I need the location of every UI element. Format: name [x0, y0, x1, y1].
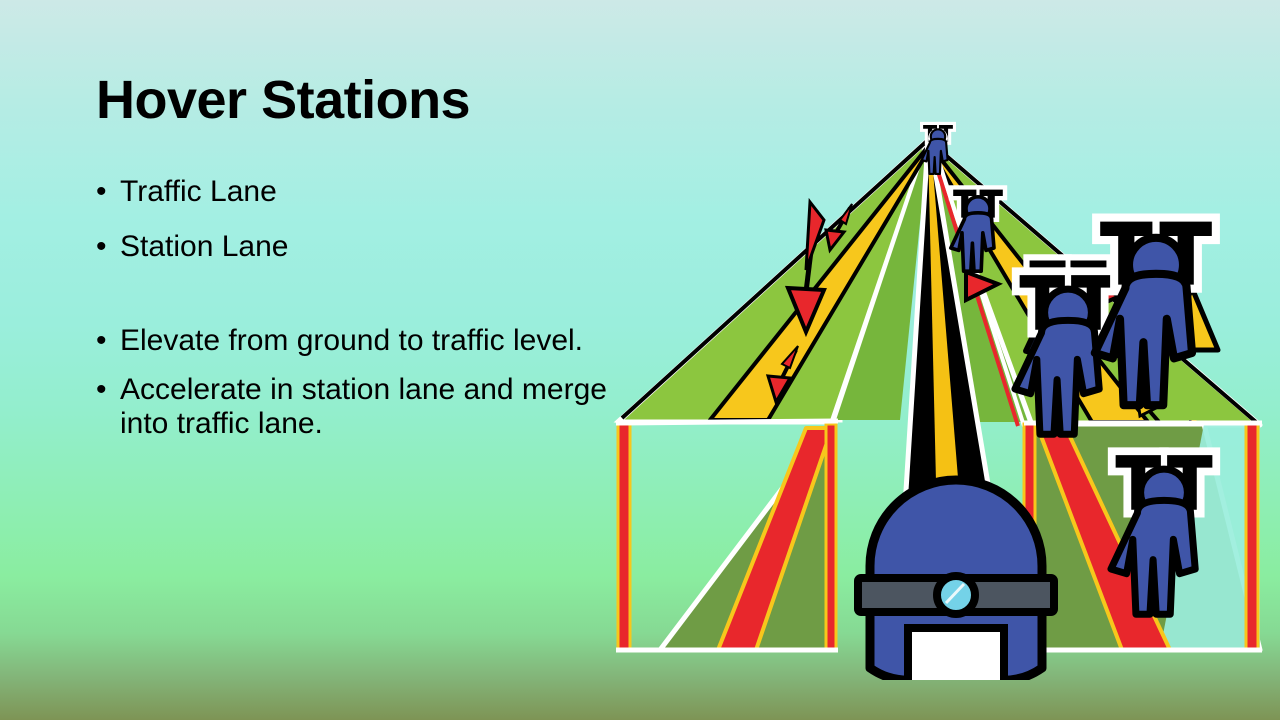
hover-station-diagram [600, 120, 1280, 680]
bullet-text: Station Lane [120, 230, 636, 264]
list-item: • Elevate from ground to traffic level. [96, 324, 636, 358]
left-edge-post [618, 424, 630, 650]
rider-helmet [858, 480, 1054, 680]
bullet-marker: • [96, 230, 120, 264]
bullet-marker: • [96, 175, 120, 209]
chin-panel [908, 628, 1004, 680]
bullet-list-top: • Traffic Lane • Station Lane [96, 175, 636, 264]
bullet-list-bottom: • Elevate from ground to traffic level. … [96, 324, 636, 441]
list-item: • Station Lane [96, 230, 636, 264]
text-column: Hover Stations • Traffic Lane • Station … [96, 72, 636, 457]
list-item: • Traffic Lane [96, 175, 636, 209]
slide-root: Hover Stations • Traffic Lane • Station … [0, 0, 1280, 720]
right-edge-post [1246, 424, 1258, 650]
left-top-rail [616, 421, 838, 423]
bullet-marker: • [96, 324, 120, 358]
bullet-text: Accelerate in station lane and merge int… [120, 373, 636, 440]
bullet-marker: • [96, 373, 120, 407]
page-title: Hover Stations [96, 72, 636, 129]
bullet-group-spacer [96, 286, 636, 324]
left-inner-post [826, 424, 836, 650]
bullet-text: Traffic Lane [120, 175, 636, 209]
bullet-text: Elevate from ground to traffic level. [120, 324, 636, 358]
list-item: • Accelerate in station lane and merge i… [96, 373, 636, 440]
visor-lens [937, 576, 975, 614]
